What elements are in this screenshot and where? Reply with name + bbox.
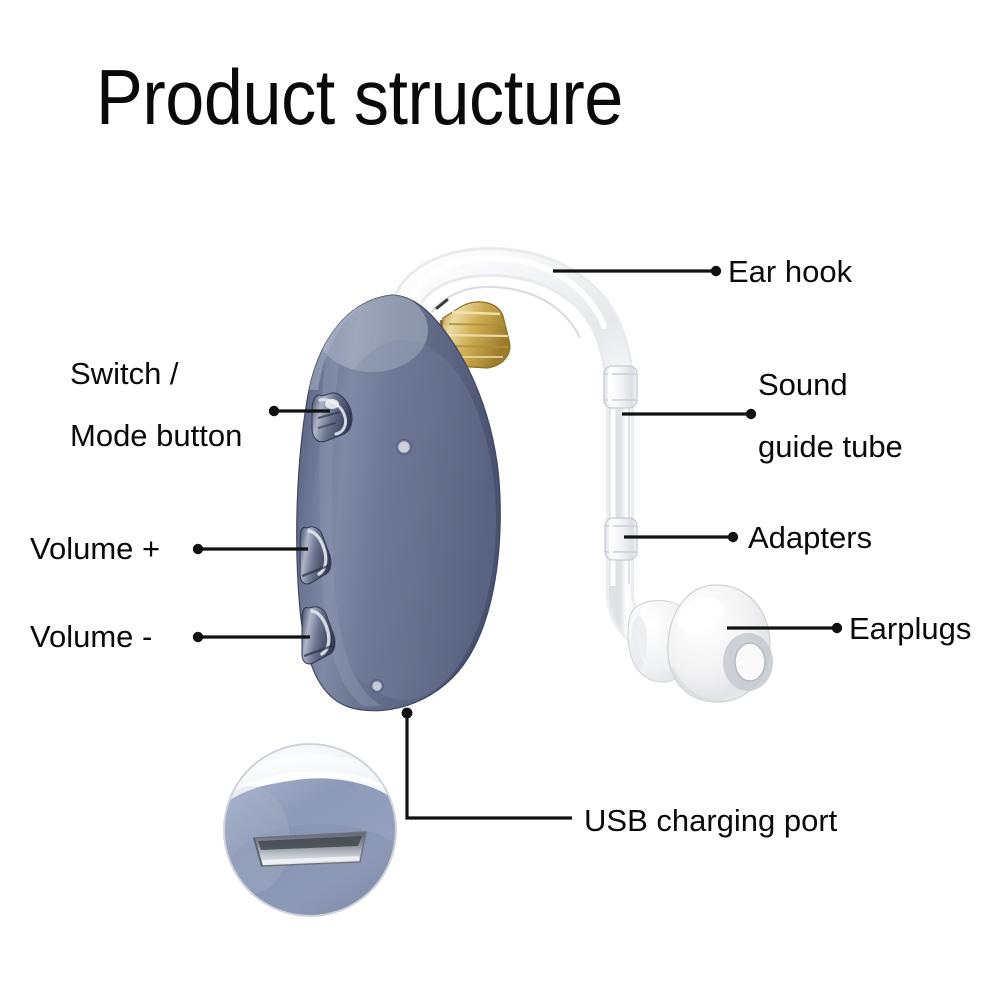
leader-volume-up (193, 544, 308, 554)
callout-line: Adapters (748, 522, 872, 553)
callout-line: Earplugs (849, 613, 971, 644)
diagram-canvas: Product structure (0, 0, 1000, 1000)
status-led-icon (398, 441, 409, 452)
callout-label-switch-mode-button: Switch / Mode button (0, 358, 266, 451)
usb-port-closeup-inset (210, 744, 412, 918)
callout-line: Ear hook (728, 256, 852, 287)
callout-label-volume-down: Volume - (30, 621, 152, 652)
callout-line: Switch / (0, 358, 266, 389)
earplugs-part (628, 585, 773, 702)
callout-label-adapters: Adapters (748, 522, 872, 553)
callout-label-usb-charging-port: USB charging port (584, 805, 837, 836)
callout-line: Sound (758, 369, 903, 400)
callout-label-earplugs: Earplugs (849, 613, 971, 644)
adapter-upper (604, 366, 637, 408)
callout-label-volume-up: Volume + (30, 533, 160, 564)
callout-line: guide tube (758, 431, 903, 462)
callout-line: Volume + (30, 533, 160, 564)
leader-adapters (624, 532, 738, 542)
leader-usb-charging-port (402, 708, 572, 818)
callout-line: Volume - (30, 621, 152, 652)
adapter-lower (605, 518, 637, 560)
leader-volume-down (193, 632, 310, 642)
callout-label-ear-hook: Ear hook (728, 256, 852, 287)
product-illustration (0, 0, 1000, 1000)
sound-guide-tube-part (604, 366, 650, 638)
callout-line: Mode button (0, 420, 266, 451)
callout-label-sound-guide-tube: Sound guide tube (758, 369, 903, 462)
leader-sound-guide-tube (622, 409, 756, 419)
callout-line: USB charging port (584, 805, 837, 836)
